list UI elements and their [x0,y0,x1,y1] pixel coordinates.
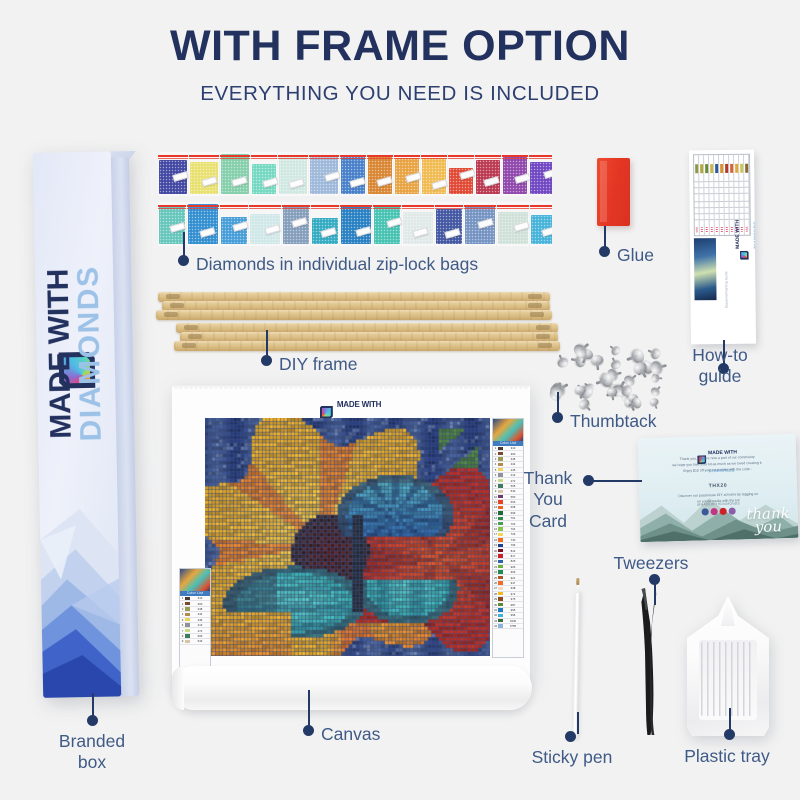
guide-chart-textline [695,213,699,214]
thumbtack-pin [584,404,591,411]
thumbtack [648,397,659,407]
how-to-guide: MADE WITH DIAMONDS Diamond Painting Guid… [689,150,756,345]
legend-code: 726 [503,532,523,536]
guide-chart-textline [714,181,718,182]
bag-zip-seal [464,205,496,207]
diamond-bag [251,152,277,196]
bag-zip-seal [282,205,310,207]
guide-chart-textline [719,193,723,194]
bag-zip-seal [373,208,401,209]
guide-chart-textline [709,193,713,194]
guide-chart-textline [740,207,744,208]
callout-label-branded-box: Branded box [22,731,162,774]
pen-tip [576,578,579,585]
bag-zip-seal [340,158,366,159]
thumbtack-pin [657,364,667,369]
guide-chart-textline [704,181,708,182]
guide-chart-textline [739,181,743,182]
callout-label-sticky-pen: Sticky pen [509,747,635,768]
guide-chart-textline [699,181,703,182]
bag-zip-seal [402,208,434,209]
bag-zip-seal [502,158,528,159]
thumbtack [556,357,570,369]
diamond-bag [249,202,281,246]
thumbtack-pin [612,393,615,401]
diamond-shield-icon [320,406,333,419]
guide-chart-swatch [720,164,723,173]
guide-chart-textline [720,219,724,220]
guide-chart-textline [700,201,704,202]
legend-code: 909 [503,570,523,574]
legend-code: 310 [503,446,523,450]
page-subtitle: EVERYTHING YOU NEED IS INCLUDED [0,82,800,106]
guide-chart-textline [700,219,704,220]
bag-beads [403,212,433,244]
tray-grooves [701,642,755,716]
guide-chart-textline [725,207,729,208]
bag-zip-seal [249,205,281,207]
legend-code: 995 [503,608,523,612]
legend-code: 740 [503,538,523,542]
legend-code: 975 [503,597,523,601]
tweezers [635,586,665,736]
diamond-bag [421,152,447,196]
guide-chart-swatch [715,164,718,173]
bag-zip-seal [187,208,219,209]
bag-beads [279,156,307,194]
bag-zip-seal [309,158,339,159]
thumbtack-pin [653,403,657,410]
guide-chart-textline [719,187,723,188]
callout-line-sticky-pen [577,712,579,734]
callout-label-diy-frame: DIY frame [279,354,357,375]
legend-code: 825 [503,559,523,563]
guide-chart-textline [705,219,709,220]
guide-chart-swatch [700,164,703,173]
diamond-bag [448,152,474,196]
diamond-bag [530,202,552,246]
guide-chart-textline [729,193,733,194]
diamond-bag [340,152,366,196]
bag-zip-seal [311,205,339,207]
diamond-bag-row-2 [158,200,552,248]
guide-chart-swatch [735,164,738,173]
guide-chart-swatch [710,164,713,173]
bag-zip-seal [421,158,447,159]
guide-chart-textline [710,207,714,208]
frame-slat [156,310,552,320]
guide-chart-textline [715,219,719,220]
thumbtack-pin [579,391,582,399]
bag-zip-seal [530,205,552,207]
guide-chart-textline [740,201,744,202]
legend-code: 947 [503,581,523,585]
bag-zip-seal [187,205,219,207]
bag-beads [188,204,218,244]
diy-frame [152,292,564,354]
guide-chart-textline [724,193,728,194]
legend-row: 9543 [180,639,210,644]
guide-chart-textline [705,207,709,208]
guide-chart-textline [745,207,749,208]
diamond-bag [529,152,552,196]
guide-chart-textline [714,193,718,194]
guide-chart-textline [695,207,699,208]
diamond-bag [394,152,420,196]
bag-zip-seal [448,158,474,159]
bag-zip-seal [282,208,310,209]
bag-zip-seal [158,208,186,209]
callout-label-tweezers: Tweezers [586,553,716,574]
callout-line-glue [604,226,606,248]
guide-chart-textline [735,201,739,202]
thumbtack [649,386,661,398]
diamond-bag [311,202,339,246]
guide-chart-textline [709,187,713,188]
callout-dot-plastic-tray [724,729,735,740]
bag-zip-seal [309,155,339,157]
bag-beads [221,154,249,194]
thumbtack-pin [612,358,617,365]
diamond-bag [435,202,463,246]
legend-code: 906 [503,565,523,569]
guide-chart-textline [720,207,724,208]
diamond-bag [497,202,529,246]
legend-code: 796 [503,543,523,547]
canvas-artwork [205,418,490,656]
bag-zip-seal [189,158,219,159]
guide-chart-textline [714,187,718,188]
legend-code: 543 [190,639,210,643]
callout-dot-thank-you [583,475,594,486]
guide-chart-textline [745,201,749,202]
guide-chart-textline [705,213,709,214]
callout-dot-diy-frame [261,355,272,366]
guide-chart-footer [711,227,713,232]
bag-zip-seal [158,158,188,159]
bag-zip-seal [373,205,401,207]
bag-zip-seal [340,205,372,207]
guide-chart-footer [696,227,698,232]
diamond-bag [158,202,186,246]
guide-chart-footer [721,227,723,232]
thumbtack-pin [596,361,599,370]
legend-code: 972 [503,592,523,596]
glue-package [597,158,630,226]
guide-chart-swatch [745,164,748,173]
diamond-bag [220,152,250,196]
bag-zip-seal [340,155,366,157]
guide-chart-textline [710,219,714,220]
thumbtack [577,397,591,411]
card-body-top: Thank you, you are now a part of our com… [652,453,782,475]
guide-chart-textline [715,201,719,202]
legend-code: 505 [190,634,210,638]
guide-chart-textline [744,193,748,194]
guide-subtext: Diamond Painting Guide [724,271,728,308]
diamond-bag [158,152,188,196]
thumbtack-pin [629,375,636,382]
guide-chart-textline [700,207,704,208]
guide-chart-swatch [725,164,728,173]
instagram-icon [711,508,718,515]
thumbtack-pin [656,377,662,379]
page-title: WITH FRAME OPTION [0,22,800,71]
bag-zip-seal [340,208,372,209]
guide-logo-line1: MADE WITH [735,220,741,249]
callout-dot-diamonds [178,255,189,266]
thumbtack [610,345,622,357]
pinterest-icon [729,508,736,515]
guide-chart-textline [744,181,748,182]
guide-logo-line2: DIAMONDS [753,221,756,248]
callout-line-diy-frame [266,330,268,358]
legend-code: 987 [503,603,523,607]
guide-photo [694,238,717,300]
diamond-bag [309,152,339,196]
guide-chart-textline [715,207,719,208]
bag-zip-seal [529,158,552,159]
guide-chart-textline [730,201,734,202]
guide-chart-textline [695,201,699,202]
canvas-color-legend-right: Color List131023003348443454456413747285… [492,418,524,658]
guide-chart-swatch [730,164,733,173]
callout-dot-glue [599,246,610,257]
guide-chart-textline [729,181,733,182]
legend-code: 3755 [503,624,523,628]
diamond-bag [402,202,434,246]
diamond-bag [373,202,401,246]
guide-chart-footer [706,227,708,232]
diamond-bag [475,152,501,196]
guide-chart-textline [695,219,699,220]
guide-chart-swatch [695,164,698,173]
guide-chart-textline [715,213,719,214]
callout-label-thank-you: Thank You Card [516,468,580,532]
callout-label-glue: Glue [617,245,654,266]
thumbtack-pin [609,346,615,352]
thumbtacks [548,344,666,416]
diamond-bag [282,202,310,246]
guide-chart-textline [744,187,748,188]
bag-zip-seal [464,208,496,209]
legend-code: 3345 [503,619,523,623]
bag-zip-seal [220,155,250,157]
guide-chart-textline [720,201,724,202]
canvas-logo-line1: MADE WITH [337,400,381,409]
bag-zip-seal [367,158,393,159]
bag-beads [341,156,365,194]
legend-code: 348 [190,607,210,611]
guide-chart-textline [710,213,714,214]
legend-code: 300 [190,602,210,606]
guide-brand-logo: MADE WITH DIAMONDS [726,214,756,260]
bag-zip-seal [502,155,528,157]
bag-zip-seal [497,205,529,207]
bag-zip-seal [251,158,277,159]
legend-code: 434 [190,612,210,616]
legend-code: 948 [503,586,523,590]
guide-chart-textline [699,193,703,194]
plastic-tray [687,596,769,736]
diamond-bag [502,152,528,196]
bag-zip-seal [278,158,308,159]
diamond-bag [367,152,393,196]
guide-chart-footer [701,227,703,232]
canvas-preview: MADE WITH DIAMONDS Color List13102300334… [172,386,530,684]
bag-zip-seal [394,158,420,159]
legend-code: 817 [503,554,523,558]
bag-beads [341,205,371,244]
guide-chart-textline [729,187,733,188]
facebook-icon [702,508,709,515]
guide-chart-textline [720,213,724,214]
diamond-shield-icon [740,251,749,260]
callout-dot-tweezers [649,574,660,585]
thumbtack-pin [596,379,607,385]
box-front-face: MADE WITH DIAMONDS Sparkle and Shine [33,151,121,697]
bag-zip-seal [220,158,250,159]
card-script-text: thank you [746,507,790,533]
guide-chart-textline [694,187,698,188]
legend-code: 310 [190,596,210,600]
legend-code: 814 [503,549,523,553]
bag-zip-seal [278,155,308,157]
guide-chart-textline [700,213,704,214]
diamond-bag [278,152,308,196]
bag-zip-seal [435,205,463,207]
bag-zip-seal [189,155,219,157]
bag-zip-seal [249,208,281,209]
callout-label-canvas: Canvas [321,724,380,745]
tweezers-shape [635,586,665,736]
callout-line-plastic-tray [729,708,731,730]
bag-zip-seal [394,155,420,157]
legend-code: 413 [190,623,210,627]
guide-chart-textline [719,181,723,182]
callout-line-tweezers [654,583,656,605]
legend-code: 434 [503,462,523,466]
callout-dot-canvas [303,725,314,736]
guide-chart-textline [739,187,743,188]
guide-chart-textline [735,207,739,208]
legend-code: 445 [190,618,210,622]
legend-thumbnail [180,569,210,591]
bag-zip-seal [421,155,447,157]
guide-chart-textline [705,201,709,202]
canvas-color-legend-left: Color List131023003348443454456413747285… [179,568,211,670]
box-brand-text: MADE WITH DIAMONDS [42,151,109,569]
thumbtack-pin [626,355,637,361]
diamond-bag-row-1 [158,150,552,198]
thumbtack [650,347,662,361]
guide-chart-swatch [705,164,708,173]
legend-thumbnail [493,419,523,441]
callout-dot-thumbtack [552,412,563,423]
guide-chart-textline [704,193,708,194]
bag-zip-seal [497,208,529,209]
guide-chart-textline [734,181,738,182]
bag-zip-seal [158,205,186,207]
guide-chart-textline [725,201,729,202]
bag-zip-seal [530,208,552,209]
callout-label-how-to: How-to guide [655,345,785,388]
legend-code: 300 [503,452,523,456]
rolled-canvas [172,666,532,710]
guide-chart-swatch [740,164,743,173]
guide-chart-textline [734,193,738,194]
legend-code: 348 [503,457,523,461]
legend-row: 343755 [493,624,523,629]
branded-box: MADE WITH DIAMONDS Sparkle and Shine [33,151,139,698]
youtube-icon [720,508,727,515]
guide-chart-textline [734,187,738,188]
infographic-stage: WITH FRAME OPTION EVERYTHING YOU NEED IS… [0,0,800,800]
bag-zip-seal [311,208,339,209]
thumbtack-pin [648,350,656,355]
guide-chart-textline [699,187,703,188]
thumbtack-pin [613,371,622,375]
callout-label-thumbtack: Thumbtack [570,411,657,432]
guide-chart-footer [716,227,718,232]
bag-zip-seal [435,208,463,209]
frame-slat [174,341,560,351]
bag-zip-seal [367,155,393,157]
callout-dot-branded-box [87,715,98,726]
callout-line-canvas [308,690,310,728]
bag-zip-seal [251,155,277,157]
diamond-bag [340,202,372,246]
thumbtack-pin [558,354,563,362]
bag-zip-seal [475,155,501,157]
callout-label-plastic-tray: Plastic tray [664,746,790,767]
callout-line-thank-you [592,480,642,482]
thumbtack-pin [571,358,580,362]
thumbtack-pin [655,386,661,392]
diamond-bag [187,202,219,246]
callout-line-thumbtack [557,392,559,414]
guide-chart-textline [724,187,728,188]
bag-zip-seal [220,208,248,209]
guide-chart-textline [739,193,743,194]
guide-chart-textline [694,181,698,182]
guide-chart-textline [694,193,698,194]
guide-chart-textline [704,187,708,188]
bag-zip-seal [529,155,552,157]
bag-zip-seal [220,205,248,207]
legend-code: 472 [190,629,210,633]
bag-zip-seal [475,158,501,159]
bag-zip-seal [448,155,474,157]
thank-you-card: MADE WITH DIAMONDS Thank you, you are no… [638,434,799,542]
callout-label-diamonds: Diamonds in individual zip-lock bags [196,254,478,275]
bag-zip-seal [158,155,188,157]
thumbtack [649,360,663,376]
guide-chart-textline [730,207,734,208]
legend-code: 921 [503,576,523,580]
guide-chart-textline [710,201,714,202]
diamond-bag [220,202,248,246]
guide-chart-textline [724,181,728,182]
bag-zip-seal [402,205,434,207]
legend-code: 996 [503,613,523,617]
diamond-bag [189,152,219,196]
bag-beads [436,209,462,244]
callout-dot-sticky-pen [565,731,576,742]
guide-chart-textline [709,181,713,182]
diamond-bag [464,202,496,246]
